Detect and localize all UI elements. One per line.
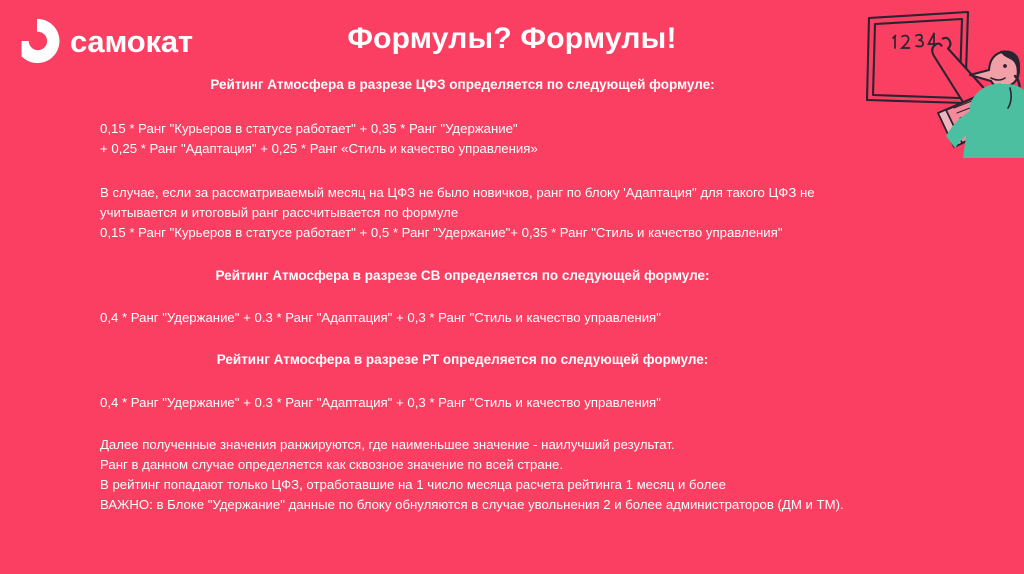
footer-line-4: ВАЖНО: в Блоке "Удержание" данные по бло… [100,495,960,515]
formula-cfz-line-1: 0,15 * Ранг "Курьеров в статусе работает… [100,119,960,139]
note-line-1: В случае, если за рассматриваемый месяц … [100,183,960,203]
footer-line-1: Далее полученные значения ранжируются, г… [100,435,960,455]
formula-cfz-line-2: + 0,25 * Ранг "Адаптация" + 0,25 * Ранг … [100,139,960,159]
board-digits [893,34,939,51]
section-heading-rt: Рейтинг Атмосфера в разрезе РТ определяе… [100,351,825,370]
note-line-2: учитывается и итоговый ранг рассчитывает… [100,203,960,223]
formula-rt-line-1: 0,4 * Ранг "Удержание" + 0.3 * Ранг "Ада… [100,393,960,413]
brand-logo: самокат [14,18,193,64]
formula-sv-line-1: 0,4 * Ранг "Удержание" + 0.3 * Ранг "Ада… [100,308,960,328]
samokat-ring-icon [14,18,60,64]
brand-wordmark: самокат [70,26,193,57]
note-line-3: 0,15 * Ранг "Курьеров в статусе работает… [100,223,960,243]
slide-canvas: самокат Формулы? Формулы! [0,0,1024,574]
section-heading-sv: Рейтинг Атмосфера в разрезе СВ определяе… [100,267,825,286]
footer-line-3: В рейтинг попадают только ЦФЗ, отработав… [100,475,960,495]
slide-content: Рейтинг Атмосфера в разрезе ЦФЗ определя… [100,76,960,515]
footer-line-2: Ранг в данном случае определяется как ск… [100,455,960,475]
section-heading-cfz: Рейтинг Атмосфера в разрезе ЦФЗ определя… [100,76,825,95]
